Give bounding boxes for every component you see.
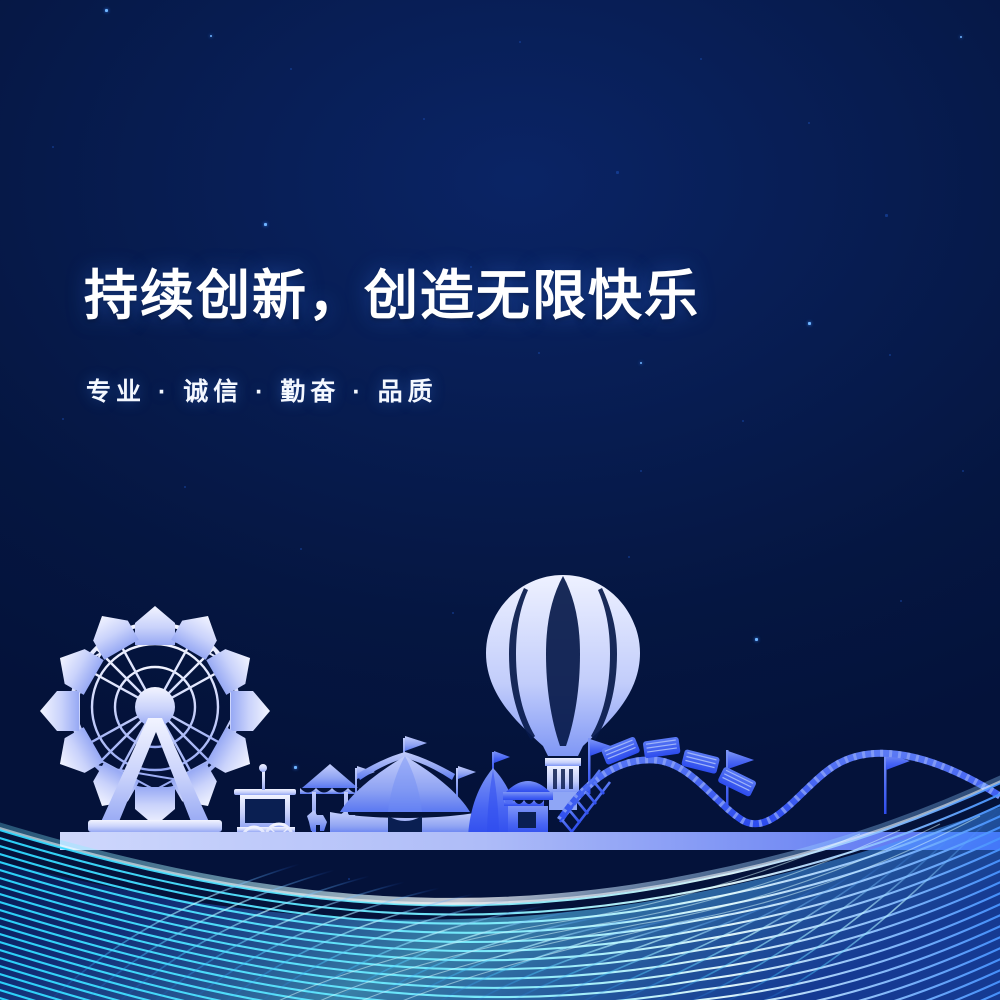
wave-mesh-decoration [0,760,1000,1000]
star-particle [538,352,540,354]
star-particle [519,41,521,43]
star-particle [960,36,962,38]
star-particle [52,146,54,148]
star-particle [885,214,888,217]
star-particle [62,418,64,420]
star-particle [808,122,810,124]
page-subtitle: 专业 · 诚信 · 勤奋 · 品质 [86,372,438,408]
star-particle [962,470,964,472]
star-particle [210,35,212,37]
page-title: 持续创新，创造无限快乐 [84,266,700,328]
star-particle [184,486,186,488]
star-particle [640,362,642,364]
star-particle [616,171,619,174]
star-particle [889,354,891,356]
star-particle [423,118,425,120]
star-particle [700,58,702,60]
poster-canvas: 持续创新，创造无限快乐 专业 · 诚信 · 勤奋 · 品质 [0,0,1000,1000]
star-particle [742,420,744,422]
star-particle [290,68,292,70]
star-particle [808,322,811,325]
star-particle [105,9,108,12]
star-particle [640,470,642,472]
star-particle [264,223,267,226]
